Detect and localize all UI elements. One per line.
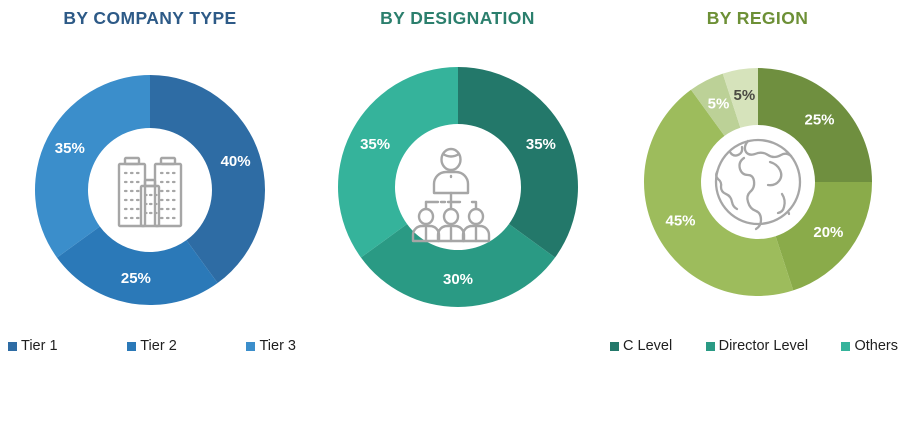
donut-slice-director-level[interactable] — [360, 224, 554, 307]
panel-title-designation: BY DESIGNATION — [300, 8, 615, 29]
legend-label: Tier 2 — [140, 338, 177, 354]
slice-value-middle-east-africa: 5% — [707, 95, 729, 112]
slice-value-south-america: 5% — [733, 87, 755, 104]
donut-slice-c-level[interactable] — [458, 67, 578, 258]
slice-value-tier-3: 35% — [55, 140, 85, 157]
legend-swatch-icon — [8, 342, 17, 351]
globe-icon — [716, 140, 800, 229]
legend-label: Tier 3 — [259, 338, 296, 354]
chart-panel-region: BY REGION 25% 20% 45% 5% 5% — [615, 0, 900, 438]
slice-value-europe: 20% — [813, 224, 843, 241]
donut-slice-tier-3[interactable] — [35, 75, 150, 258]
donut-chart-region: 25% 20% 45% 5% 5% — [638, 62, 878, 302]
legend-item-tier-2[interactable]: Tier 2 — [127, 338, 177, 354]
office-buildings-icon — [119, 158, 181, 226]
legend-company-type: Tier 1 Tier 2 Tier 3 — [8, 338, 298, 354]
chart-panel-company-type: BY COMPANY TYPE 40% 25% 35% — [0, 0, 300, 438]
slice-value-c-level: 35% — [525, 136, 555, 153]
legend-label: Tier 1 — [21, 338, 58, 354]
slice-value-tier-2: 25% — [121, 270, 151, 287]
panel-title-region: BY REGION — [615, 8, 900, 29]
slice-value-north-america: 25% — [804, 111, 834, 128]
panel-title-company-type: BY COMPANY TYPE — [0, 8, 300, 29]
slice-value-tier-1: 40% — [221, 153, 251, 170]
legend-swatch-icon — [246, 342, 255, 351]
legend-item-tier-3[interactable]: Tier 3 — [246, 338, 296, 354]
slice-value-others: 35% — [360, 136, 390, 153]
donut-chart-designation: 35% 30% 35% — [333, 62, 583, 312]
chart-panel-designation: BY DESIGNATION 35% 30% 35% — [300, 0, 615, 438]
donut-svg-designation: 35% 30% 35% — [333, 62, 583, 312]
donut-chart-company-type: 40% 25% 35% — [30, 70, 270, 310]
slice-value-director-level: 30% — [442, 271, 472, 288]
donut-svg-company-type: 40% 25% 35% — [30, 70, 270, 310]
org-chart-people-icon — [413, 149, 489, 241]
donut-slice-others[interactable] — [338, 67, 458, 258]
legend-item-tier-1[interactable]: Tier 1 — [8, 338, 58, 354]
legend-swatch-icon — [127, 342, 136, 351]
slice-value-asia-pacific: 45% — [665, 212, 695, 229]
donut-svg-region: 25% 20% 45% 5% 5% — [638, 62, 878, 302]
